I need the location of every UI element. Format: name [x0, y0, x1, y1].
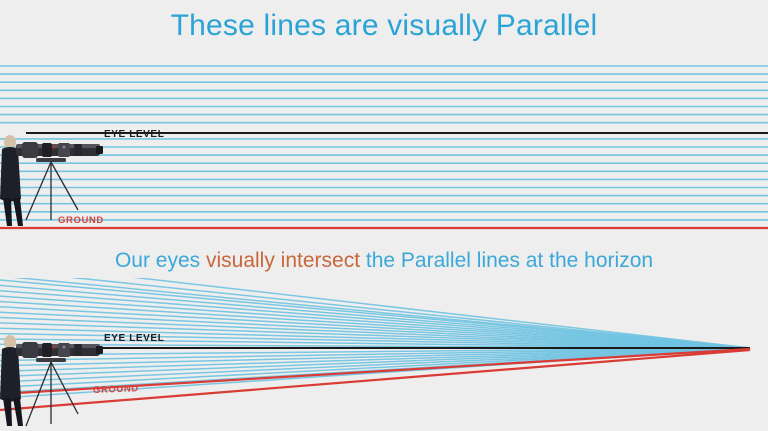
slide-canvas: These lines are visually Parallel EYE LE… — [0, 0, 768, 431]
caption-text: Our eyes visually intersect the Parallel… — [0, 249, 768, 273]
camera-body-icon — [16, 342, 103, 358]
caption-part-1: Our eyes — [115, 249, 206, 272]
tripod-icon — [26, 158, 78, 220]
caption-part-2: visually intersect — [206, 249, 360, 272]
caption-part-3: the Parallel lines at the horizon — [360, 249, 653, 272]
camera-tripod-icon — [0, 128, 120, 228]
camera-body-icon — [16, 142, 103, 158]
tripod-icon — [26, 358, 78, 426]
page-title: These lines are visually Parallel — [0, 9, 768, 43]
camera-tripod-icon-bottom — [0, 328, 120, 428]
